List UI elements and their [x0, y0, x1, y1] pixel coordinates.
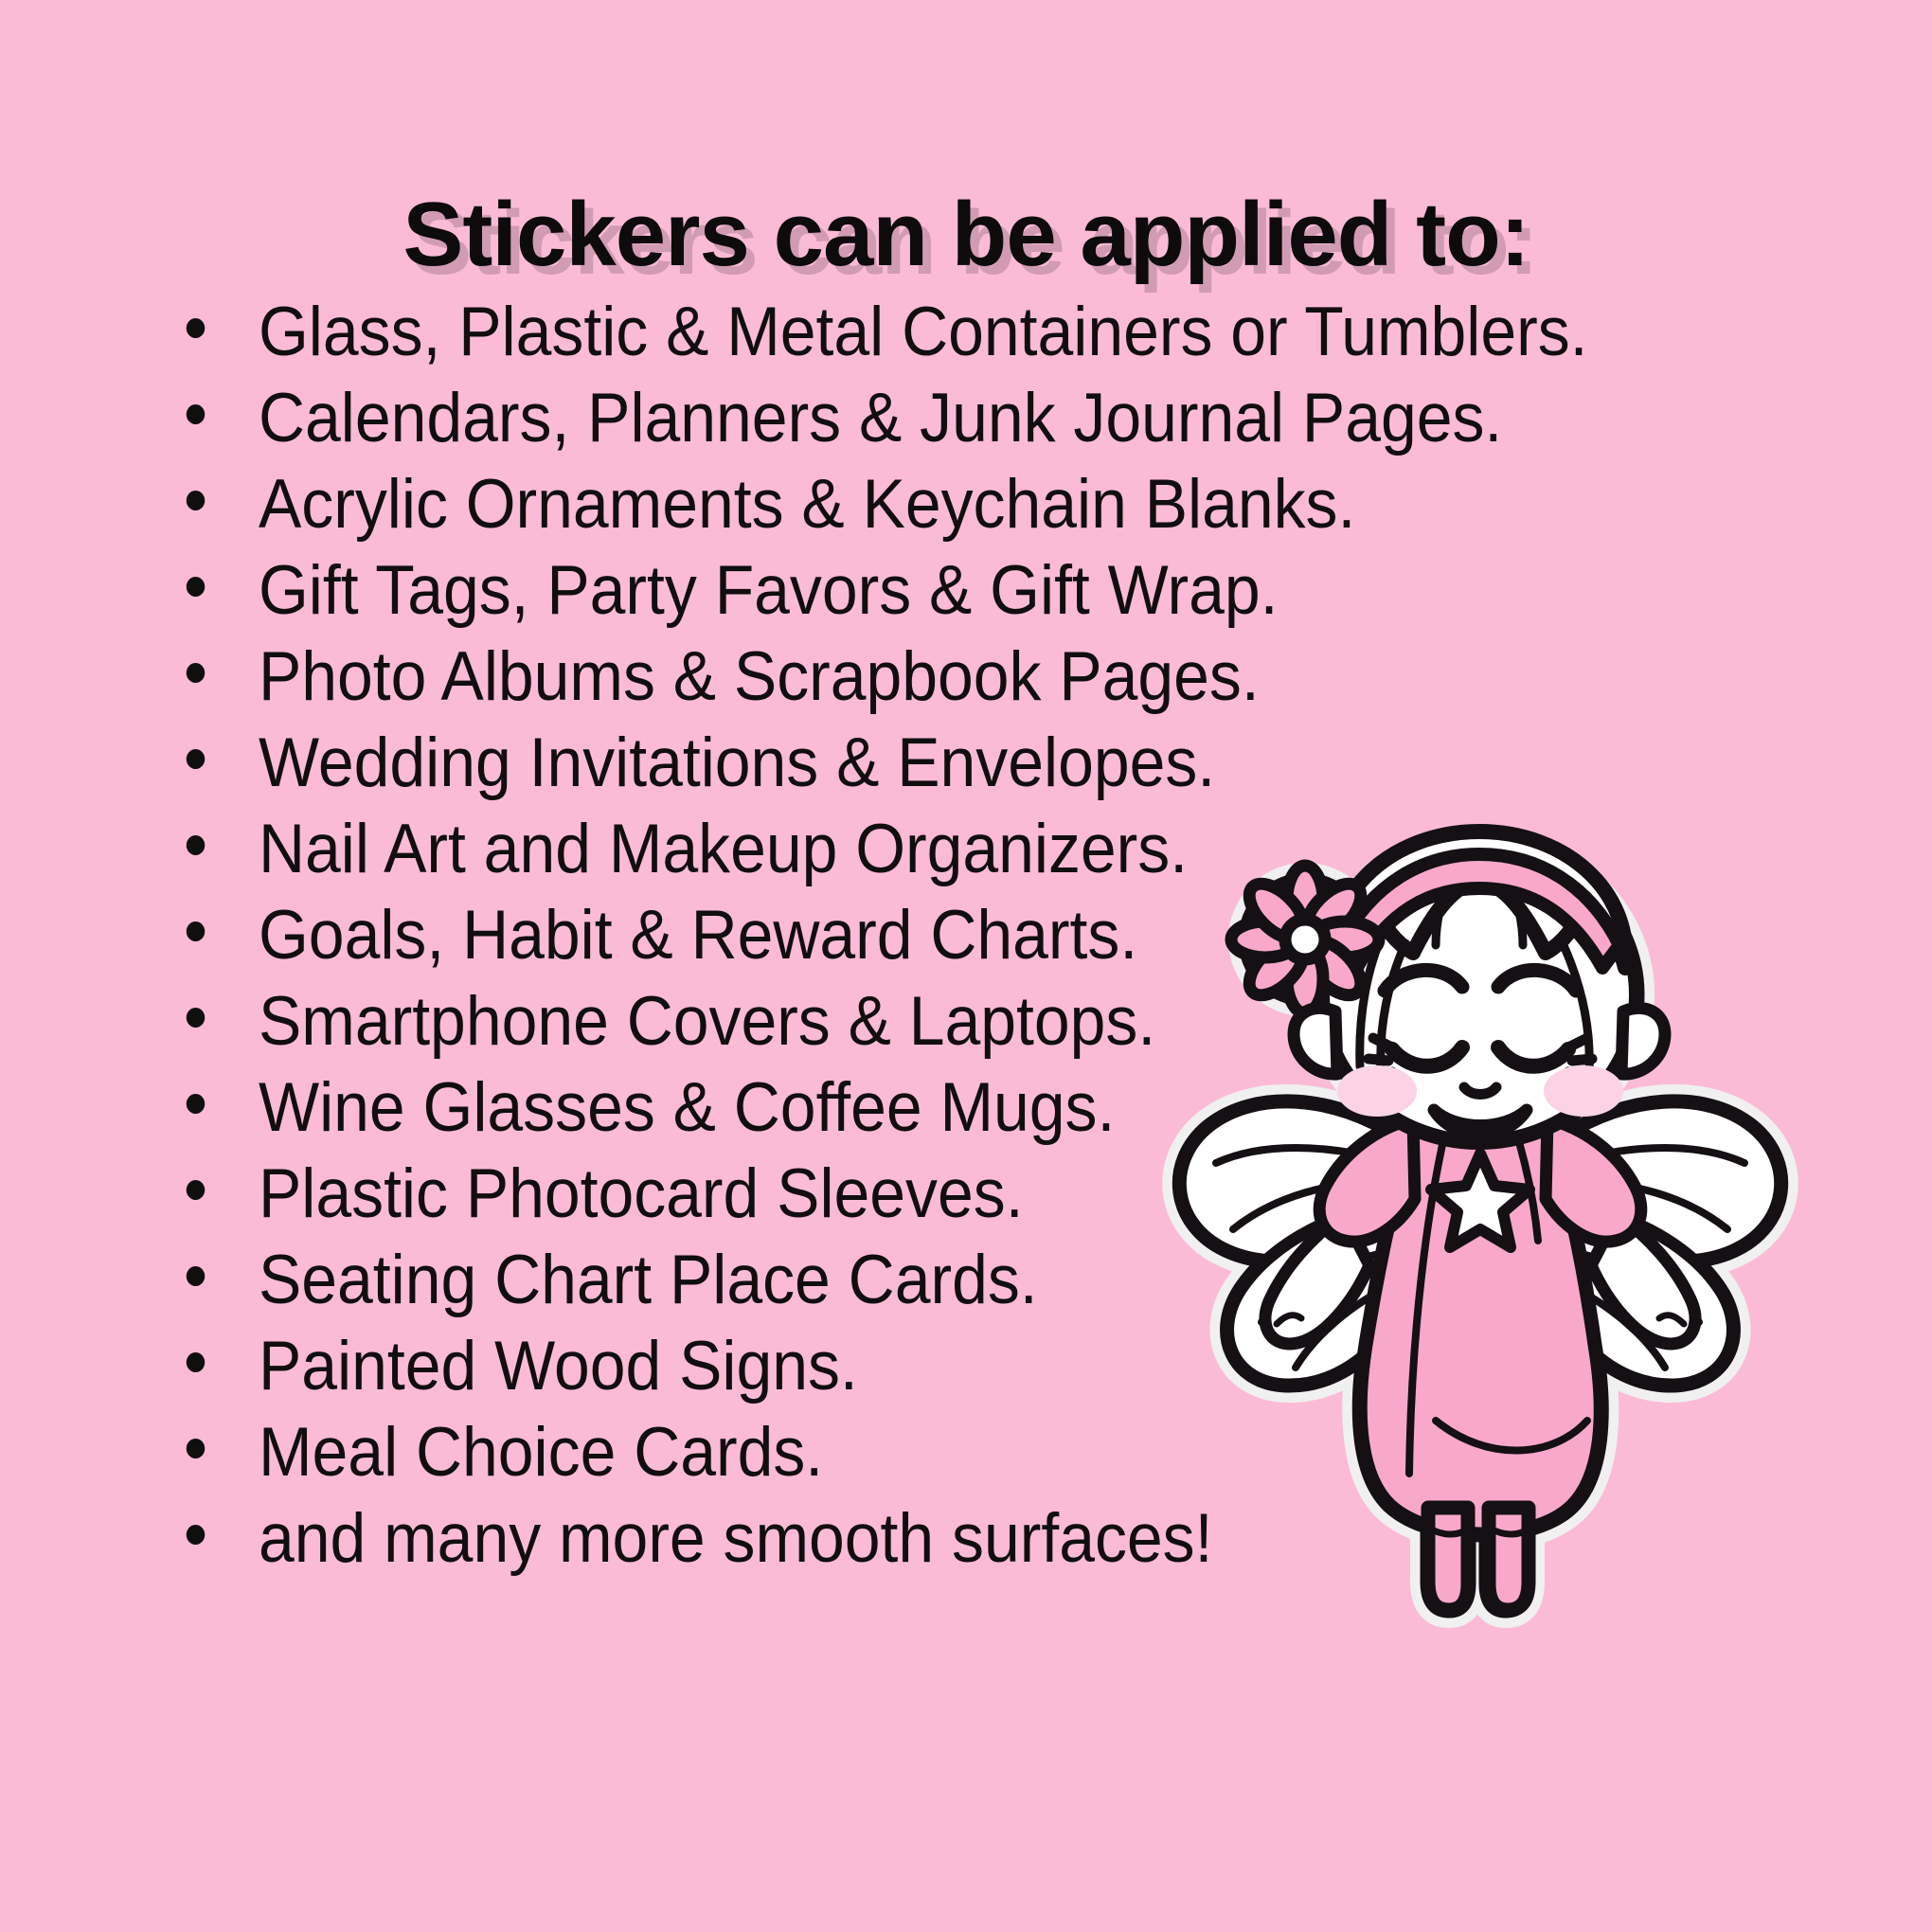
bullet-icon — [187, 1008, 206, 1028]
list-item-label: Gift Tags, Party Favors & Gift Wrap. — [259, 547, 1279, 634]
list-item: Glass, Plastic & Metal Containers or Tum… — [170, 284, 1668, 370]
list-item-label: Goals, Habit & Reward Charts. — [259, 892, 1137, 978]
bullet-icon — [187, 1525, 206, 1545]
poster-canvas: Stickers can be applied to: Glass, Plast… — [0, 0, 1932, 1932]
list-item-label: Seating Chart Place Cards. — [259, 1237, 1038, 1323]
list-item-label: Calendars, Planners & Junk Journal Pages… — [259, 375, 1502, 461]
bullet-icon — [187, 1180, 206, 1200]
flower-hair-clip-icon — [1231, 866, 1379, 1013]
bullet-icon — [187, 404, 206, 424]
bullet-icon — [187, 318, 206, 338]
bullet-icon — [187, 835, 206, 855]
bullet-icon — [187, 491, 206, 510]
list-item-label: Wine Glasses & Coffee Mugs. — [259, 1064, 1115, 1151]
bullet-icon — [187, 577, 206, 597]
list-item: Photo Albums & Scrapbook Pages. — [170, 629, 1668, 715]
bullet-icon — [187, 921, 206, 941]
list-item-label: Meal Choice Cards. — [259, 1409, 823, 1495]
list-item: Calendars, Planners & Junk Journal Pages… — [170, 370, 1668, 456]
list-item-label: Acrylic Ornaments & Keychain Blanks. — [259, 461, 1355, 547]
list-item: Gift Tags, Party Favors & Gift Wrap. — [170, 543, 1668, 629]
list-item-label: Glass, Plastic & Metal Containers or Tum… — [259, 289, 1588, 375]
list-item-label: Painted Wood Signs. — [259, 1323, 858, 1409]
list-item: Wedding Invitations & Envelopes. — [170, 715, 1668, 801]
fairy-girl-sticker-illustration — [1174, 852, 1790, 1657]
page-title: Stickers can be applied to: — [0, 186, 1932, 284]
bullet-icon — [187, 1439, 206, 1458]
bullet-icon — [187, 1094, 206, 1114]
bullet-icon — [187, 663, 206, 683]
list-item: Acrylic Ornaments & Keychain Blanks. — [170, 456, 1668, 543]
bullet-icon — [187, 749, 206, 769]
list-item-label: Wedding Invitations & Envelopes. — [259, 720, 1215, 806]
bullet-icon — [187, 1266, 206, 1286]
list-item-label: Photo Albums & Scrapbook Pages. — [259, 634, 1260, 720]
list-item-label: and many more smooth surfaces! — [259, 1495, 1212, 1582]
bullet-icon — [187, 1352, 206, 1372]
list-item-label: Nail Art and Makeup Organizers. — [259, 806, 1188, 892]
list-item-label: Smartphone Covers & Laptops. — [259, 978, 1155, 1064]
list-item-label: Plastic Photocard Sleeves. — [259, 1151, 1024, 1237]
